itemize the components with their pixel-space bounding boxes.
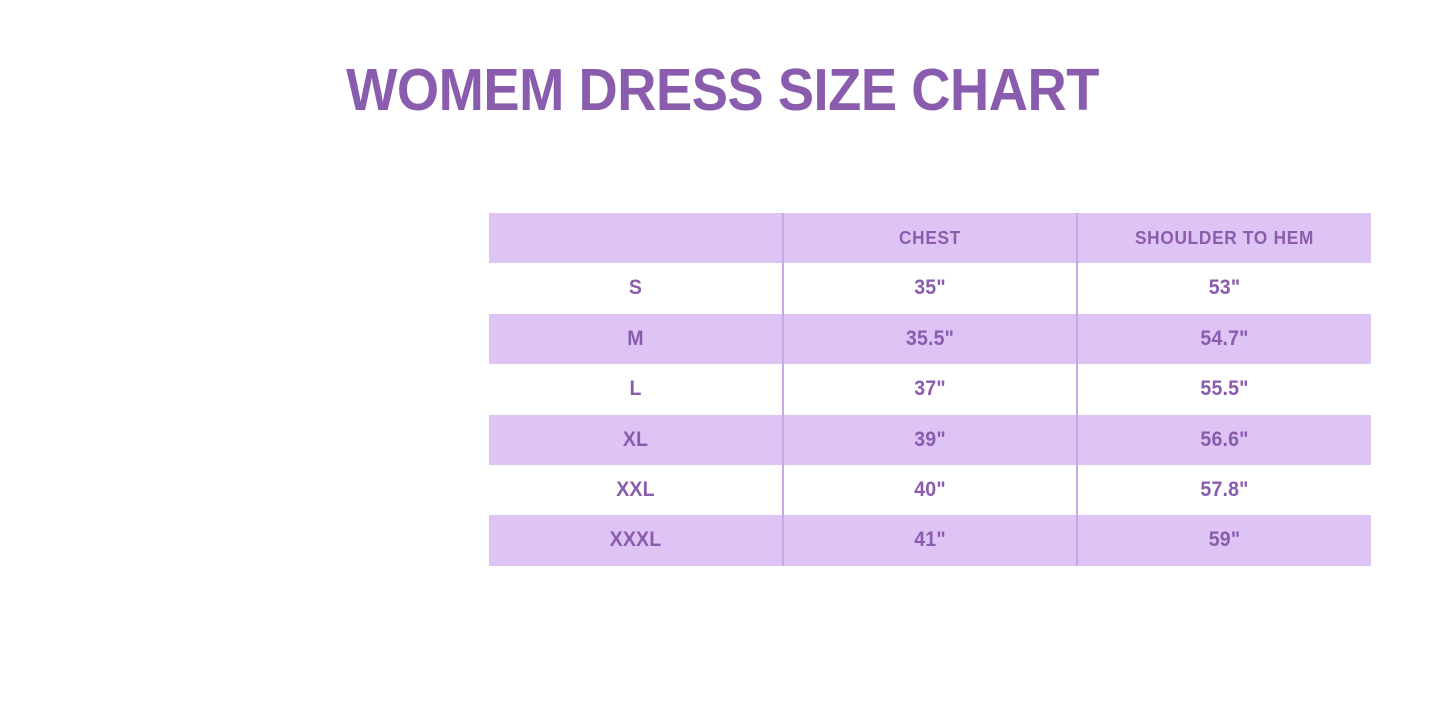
cell-chest: 37" [783,364,1077,414]
size-chart-page: WOMEM DRESS SIZE CHART CHEST SHOULDER TO… [0,0,1445,723]
cell-size: XXXL [489,515,783,565]
table-row: L 37" 55.5" [489,364,1371,414]
cell-chest-value: 40" [794,465,1066,515]
column-header-size [489,213,783,263]
table-header: CHEST SHOULDER TO HEM [489,213,1371,263]
column-header-shoulder-to-hem-label: SHOULDER TO HEM [1088,213,1360,263]
cell-shoulder-to-hem: 55.5" [1077,364,1371,414]
cell-shoulder-to-hem: 53" [1077,263,1371,313]
cell-size: S [489,263,783,313]
cell-shoulder-to-hem-value: 57.8" [1088,465,1360,515]
cell-shoulder-to-hem: 57.8" [1077,465,1371,515]
cell-shoulder-to-hem: 54.7" [1077,314,1371,364]
cell-chest: 39" [783,415,1077,465]
cell-chest: 41" [783,515,1077,565]
size-chart-table: CHEST SHOULDER TO HEM S 35" 53" [489,213,1371,566]
size-chart-table-container: CHEST SHOULDER TO HEM S 35" 53" [489,213,1371,566]
table-header-row: CHEST SHOULDER TO HEM [489,213,1371,263]
column-header-shoulder-to-hem: SHOULDER TO HEM [1077,213,1371,263]
table-row: XL 39" 56.6" [489,415,1371,465]
cell-chest-value: 35" [794,263,1066,313]
cell-shoulder-to-hem: 59" [1077,515,1371,565]
cell-chest-value: 41" [794,515,1066,565]
cell-size-value: XXL [499,465,771,515]
cell-chest-value: 35.5" [794,314,1066,364]
cell-shoulder-to-hem-value: 54.7" [1088,314,1360,364]
cell-size-value: XXXL [499,515,771,565]
table-row: XXXL 41" 59" [489,515,1371,565]
table-row: M 35.5" 54.7" [489,314,1371,364]
cell-shoulder-to-hem-value: 55.5" [1088,364,1360,414]
cell-size-value: XL [499,415,771,465]
cell-shoulder-to-hem-value: 53" [1088,263,1360,313]
cell-shoulder-to-hem: 56.6" [1077,415,1371,465]
cell-chest: 35.5" [783,314,1077,364]
cell-chest: 35" [783,263,1077,313]
cell-size: L [489,364,783,414]
page-title: WOMEM DRESS SIZE CHART [58,54,1387,126]
cell-size: M [489,314,783,364]
column-header-chest-label: CHEST [794,213,1066,263]
cell-shoulder-to-hem-value: 59" [1088,515,1360,565]
cell-size-value: L [499,364,771,414]
cell-size: XXL [489,465,783,515]
cell-size-value: M [499,314,771,364]
cell-chest-value: 37" [794,364,1066,414]
cell-size-value: S [499,263,771,313]
cell-size: XL [489,415,783,465]
table-row: XXL 40" 57.8" [489,465,1371,515]
table-body: S 35" 53" M 35.5" [489,263,1371,565]
cell-shoulder-to-hem-value: 56.6" [1088,415,1360,465]
table-row: S 35" 53" [489,263,1371,313]
cell-chest-value: 39" [794,415,1066,465]
cell-chest: 40" [783,465,1077,515]
column-header-chest: CHEST [783,213,1077,263]
